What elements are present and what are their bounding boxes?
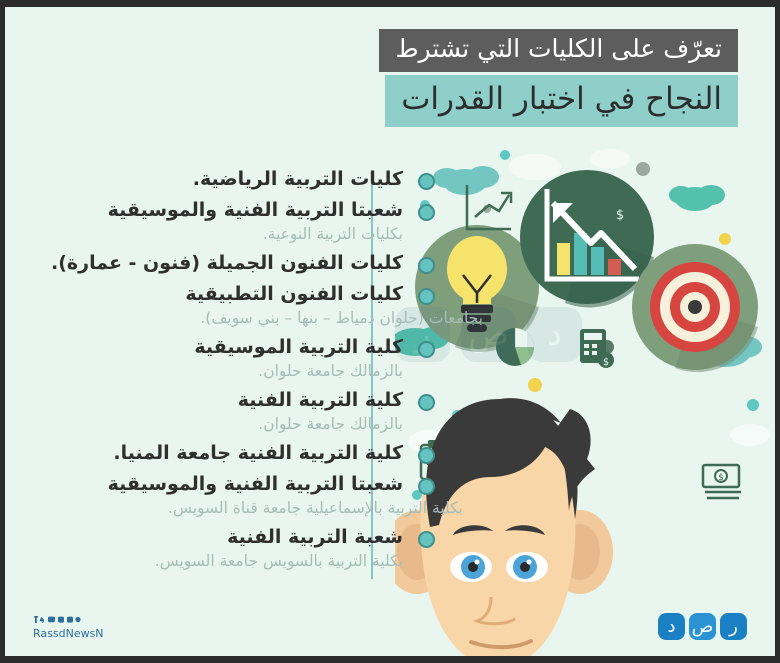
pie-chart-icon [496, 328, 534, 366]
list-item-title: شعبة التربية الفنية [63, 525, 403, 550]
header-title-band: النجاح في اختبار القدرات [385, 75, 738, 127]
list-item-subtitle: بكليات التربية النوعية. [63, 224, 403, 245]
list-item: كليات الفنون التطبيقية بجامعات (حلوان دم… [63, 282, 403, 329]
list-item-title: شعبتا التربية الفنية والموسيقية [63, 472, 403, 497]
list-item-subtitle: بكلية التربية بالإسماعيلية جامعة قناة ال… [63, 498, 463, 519]
infographic-page: تعرّف على الكليات التي تشترط النجاح في ا… [0, 0, 780, 663]
list-item-subtitle: بالزمالك جامعة حلوان. [63, 361, 403, 382]
svg-text:$: $ [616, 208, 624, 223]
list-item: كلية التربية الفنية بالزمالك جامعة حلوان… [63, 388, 403, 435]
social-handle[interactable]: RassdNewsN [33, 627, 104, 640]
social-block: RassdNewsN [33, 615, 104, 640]
target-icon [632, 244, 758, 372]
list-item-title: كلية التربية الفنية جامعة المنيا. [63, 441, 403, 466]
list-item-title: شعبتا التربية الفنية والموسيقية [63, 198, 403, 223]
logo-letter: ر [720, 613, 747, 640]
logo-letter: ص [689, 613, 716, 640]
logo-letter: د [658, 613, 685, 640]
telegram-icon [75, 617, 80, 622]
header-subtitle-band: تعرّف على الكليات التي تشترط [379, 29, 738, 72]
list-item-title: كلية التربية الموسيقية [63, 335, 403, 360]
list-item: كليات الفنون الجميلة (فنون - عمارة). [63, 251, 403, 276]
instagram-icon [58, 617, 64, 623]
list-item-title: كليات التربية الرياضية. [63, 167, 403, 192]
list-item-subtitle: بالزمالك جامعة حلوان. [63, 414, 403, 435]
illustration: $ $ [395, 147, 780, 657]
list-item-title: كليات الفنون التطبيقية [63, 282, 403, 307]
list-item: شعبتا التربية الفنية والموسيقية بكلية ال… [63, 472, 403, 519]
timeline-dot [418, 173, 435, 190]
twitter-icon [40, 617, 44, 623]
youtube-icon [48, 617, 55, 623]
list-item: شعبة التربية الفنية بكلية التربية بالسوي… [63, 525, 403, 572]
social-icons-row[interactable] [33, 615, 104, 626]
cash-icon: $ [703, 465, 741, 498]
bar-chart-icon [520, 170, 654, 307]
list-item: شعبتا التربية الفنية والموسيقية بكليات ا… [63, 198, 403, 245]
list-item: كلية التربية الموسيقية بالزمالك جامعة حل… [63, 335, 403, 382]
svg-text:$: $ [718, 473, 724, 483]
list-item: كليات التربية الرياضية. [63, 167, 403, 192]
list-item-subtitle: بكلية التربية بالسويس جامعة السويس. [63, 551, 403, 572]
rassd-logo[interactable]: د ص ر [658, 613, 747, 640]
list-item-subtitle: بجامعات (حلوان دمياط – بنها – بني سويف). [63, 308, 483, 329]
list-item: كلية التربية الفنية جامعة المنيا. [63, 441, 403, 466]
timeline-dot [418, 204, 435, 221]
snapchat-icon [67, 617, 73, 623]
list-item-title: كلية التربية الفنية [63, 388, 403, 413]
college-list: كليات التربية الرياضية. شعبتا التربية ال… [63, 167, 403, 578]
svg-text:$: $ [603, 357, 609, 368]
list-item-title: كليات الفنون الجميلة (فنون - عمارة). [63, 251, 403, 276]
timeline-dot [418, 257, 435, 274]
facebook-icon [34, 616, 38, 623]
